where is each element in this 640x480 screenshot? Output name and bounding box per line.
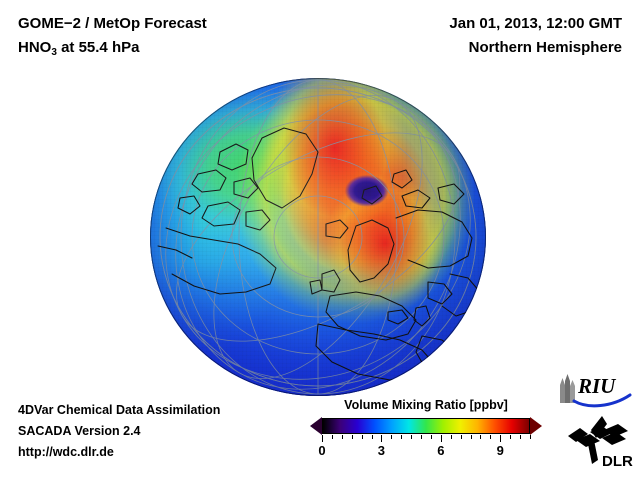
- sphere-shading: [150, 78, 486, 396]
- title-line: GOME−2 / MetOp Forecast: [18, 12, 318, 36]
- timestamp-line: Jan 01, 2013, 12:00 GMT: [322, 12, 622, 36]
- colorbar-minor-tick: [530, 435, 531, 439]
- header-right-block: Jan 01, 2013, 12:00 GMT Northern Hemisph…: [322, 12, 622, 60]
- colorbar-tick-label: 3: [378, 443, 385, 458]
- header-left-block: GOME−2 / MetOp Forecast HNO3 at 55.4 hPa: [18, 12, 318, 62]
- hemisphere-line: Northern Hemisphere: [322, 36, 622, 60]
- colorbar-minor-tick: [372, 435, 373, 439]
- colorbar-minor-tick: [461, 435, 462, 439]
- colorbar-major-tick: [381, 435, 382, 442]
- colorbar-minor-tick: [471, 435, 472, 439]
- colorbar-major-tick: [500, 435, 501, 442]
- colorbar-bar-row: [310, 417, 542, 435]
- colorbar-title: Volume Mixing Ratio [ppbv]: [310, 398, 542, 412]
- colorbar-minor-tick: [431, 435, 432, 439]
- colorbar-tick-label: 6: [437, 443, 444, 458]
- colorbar-minor-tick: [510, 435, 511, 439]
- footer-left-block: 4DVar Chemical Data Assimilation SACADA …: [18, 400, 308, 463]
- colorbar-ticks: [322, 435, 530, 442]
- colorbar-minor-tick: [401, 435, 402, 439]
- dlr-logo-text: DLR: [602, 453, 633, 470]
- assimilation-line: 4DVar Chemical Data Assimilation: [18, 400, 308, 421]
- colorbar-cap-high-icon: [530, 417, 542, 435]
- colorbar-tick-labels: 0369: [322, 443, 530, 461]
- colorbar-minor-tick: [451, 435, 452, 439]
- species-subscript: 3: [51, 47, 57, 58]
- colorbar-minor-tick: [480, 435, 481, 439]
- dlr-logo: DLR: [566, 414, 634, 470]
- colorbar-minor-tick: [332, 435, 333, 439]
- colorbar-major-tick: [441, 435, 442, 442]
- colorbar-minor-tick: [342, 435, 343, 439]
- colorbar-major-tick: [322, 435, 323, 442]
- globe-map: [150, 78, 486, 396]
- url-line[interactable]: http://wdc.dlr.de: [18, 442, 308, 463]
- colorbar-minor-tick: [352, 435, 353, 439]
- colorbar-cap-low-icon: [310, 417, 322, 435]
- riu-logo: RIU: [556, 371, 634, 409]
- colorbar-minor-tick: [421, 435, 422, 439]
- colorbar-minor-tick: [411, 435, 412, 439]
- species-suffix: at 55.4 hPa: [57, 39, 140, 56]
- colorbar-tick-label: 9: [497, 443, 504, 458]
- colorbar-tick-label: 0: [318, 443, 325, 458]
- species-line: HNO3 at 55.4 hPa: [18, 36, 318, 62]
- colorbar: Volume Mixing Ratio [ppbv] 0369: [310, 398, 542, 461]
- riu-logo-text: RIU: [577, 374, 617, 398]
- riu-tower-icon: [560, 374, 575, 403]
- colorbar-minor-tick: [362, 435, 363, 439]
- colorbar-minor-tick: [490, 435, 491, 439]
- colorbar-minor-tick: [520, 435, 521, 439]
- globe-sphere: [150, 78, 486, 396]
- colorbar-gradient: [322, 418, 530, 434]
- species-prefix: HNO: [18, 39, 51, 56]
- colorbar-minor-tick: [391, 435, 392, 439]
- version-line: SACADA Version 2.4: [18, 421, 308, 442]
